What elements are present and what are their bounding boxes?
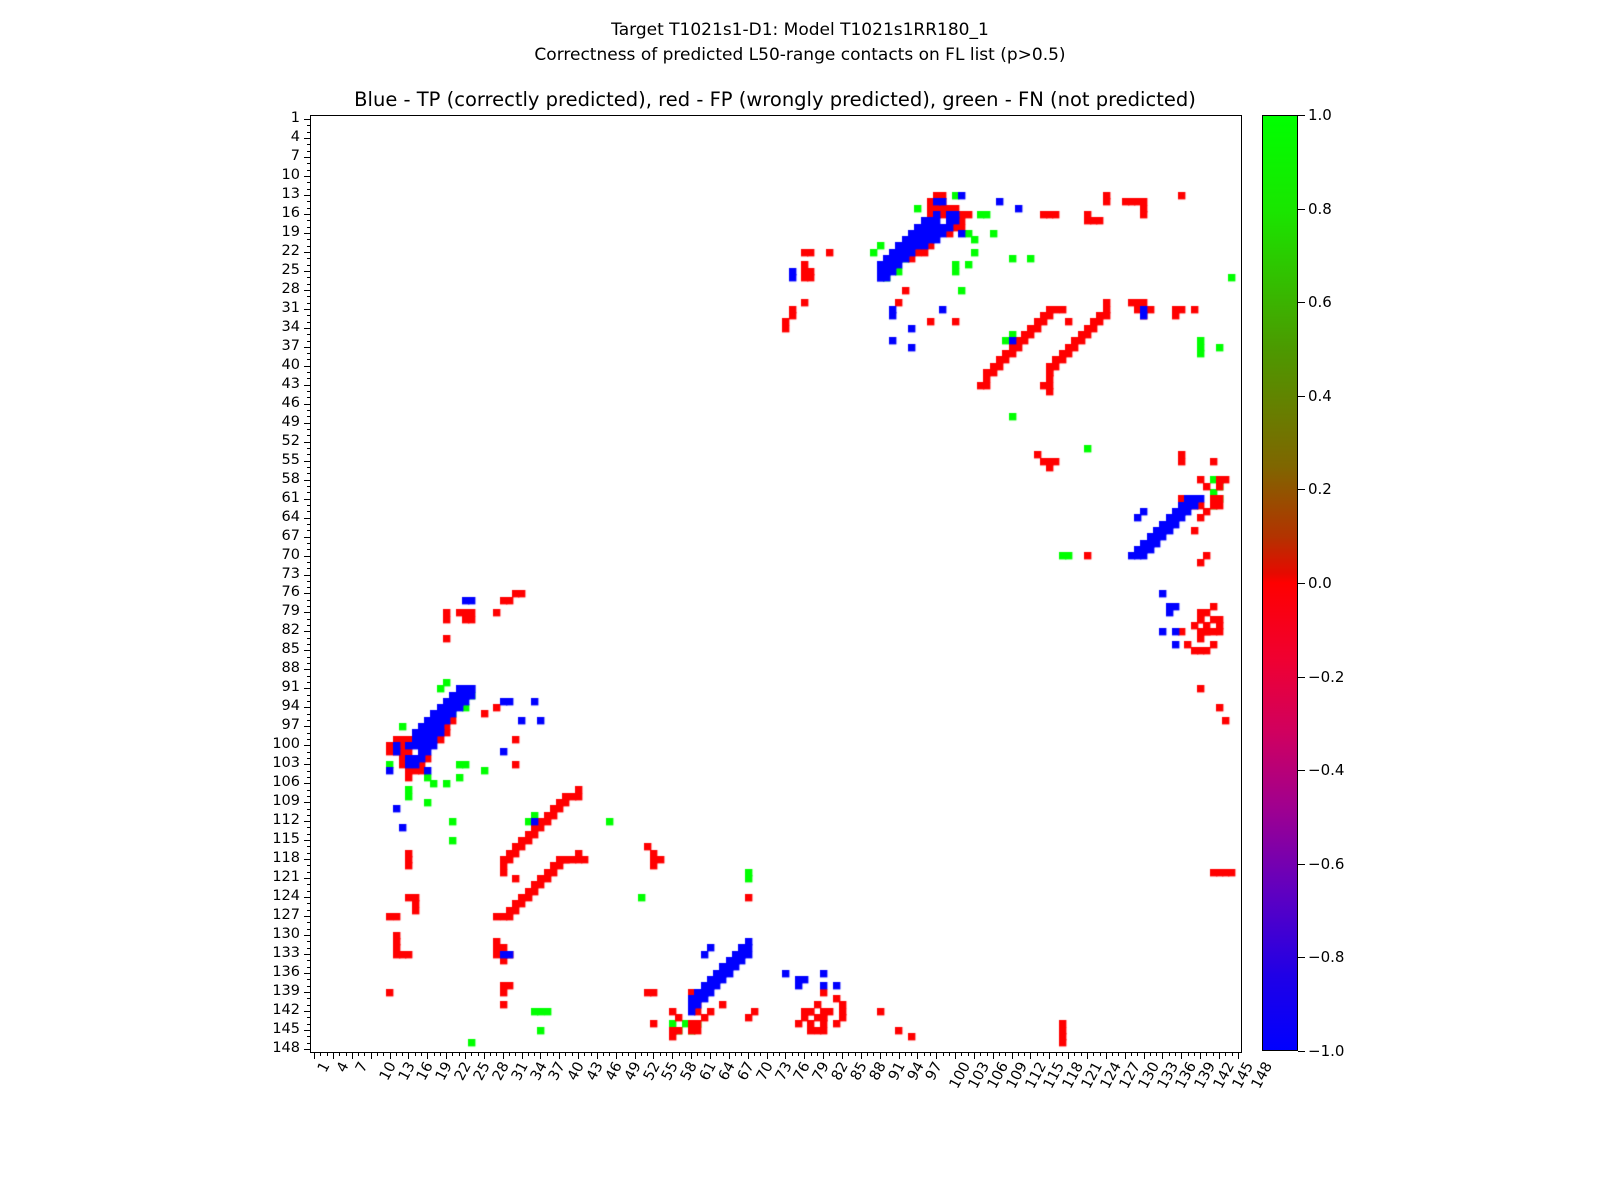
y-tick bbox=[307, 625, 311, 626]
x-tick bbox=[647, 1052, 648, 1056]
x-tick bbox=[1137, 1052, 1138, 1056]
y-tick bbox=[304, 612, 311, 613]
y-tick bbox=[304, 252, 311, 253]
x-tick bbox=[905, 1052, 906, 1056]
y-tick bbox=[304, 518, 311, 519]
colorbar-container[interactable]: 1.00.80.60.40.20.0−0.2−0.4−0.6−0.8−1.0 bbox=[1262, 115, 1298, 1051]
y-tick bbox=[307, 341, 311, 342]
x-tick bbox=[836, 1052, 837, 1056]
x-tick bbox=[364, 1052, 365, 1056]
y-tick bbox=[307, 549, 311, 550]
x-tick bbox=[955, 1052, 956, 1059]
x-tick bbox=[1024, 1052, 1025, 1056]
x-tick bbox=[842, 1052, 843, 1059]
x-tick bbox=[892, 1052, 893, 1056]
y-tick bbox=[307, 891, 311, 892]
x-tick bbox=[943, 1052, 944, 1056]
y-tick bbox=[304, 480, 311, 481]
y-tick bbox=[307, 815, 311, 816]
y-tick bbox=[304, 423, 311, 424]
y-tick bbox=[304, 461, 311, 462]
y-tick-label: 133 bbox=[242, 946, 300, 960]
y-tick bbox=[304, 688, 311, 689]
x-tick-label: 40 bbox=[566, 1060, 587, 1083]
y-tick bbox=[304, 214, 311, 215]
x-tick bbox=[1030, 1052, 1031, 1059]
x-tick bbox=[628, 1052, 629, 1056]
x-tick bbox=[1074, 1052, 1075, 1056]
y-tick bbox=[304, 1049, 311, 1050]
x-tick bbox=[729, 1052, 730, 1059]
y-tick bbox=[304, 233, 311, 234]
x-tick bbox=[792, 1052, 793, 1056]
x-tick-label: 64 bbox=[717, 1060, 738, 1083]
x-tick bbox=[641, 1052, 642, 1056]
x-tick bbox=[811, 1052, 812, 1056]
y-tick bbox=[307, 372, 311, 373]
y-tick-label: 73 bbox=[242, 567, 300, 581]
y-tick-label: 43 bbox=[242, 377, 300, 391]
x-tick bbox=[779, 1052, 780, 1056]
x-tick bbox=[735, 1052, 736, 1056]
y-tick-label: 67 bbox=[242, 529, 300, 543]
x-tick-label: 43 bbox=[585, 1060, 606, 1083]
x-tick bbox=[697, 1052, 698, 1056]
y-tick-label: 85 bbox=[242, 642, 300, 656]
y-tick bbox=[307, 144, 311, 145]
y-tick-label: 28 bbox=[242, 282, 300, 296]
y-tick bbox=[304, 802, 311, 803]
y-tick bbox=[307, 562, 311, 563]
y-tick-label: 16 bbox=[242, 206, 300, 220]
y-tick bbox=[307, 246, 311, 247]
x-tick bbox=[1100, 1052, 1101, 1056]
x-tick bbox=[704, 1052, 705, 1056]
y-tick bbox=[307, 809, 311, 810]
y-tick-label: 103 bbox=[242, 756, 300, 770]
y-tick bbox=[307, 473, 311, 474]
x-tick bbox=[1093, 1052, 1094, 1056]
y-tick bbox=[307, 929, 311, 930]
y-tick bbox=[307, 834, 311, 835]
y-tick bbox=[307, 865, 311, 866]
x-tick-label: 67 bbox=[736, 1060, 757, 1083]
y-tick bbox=[307, 922, 311, 923]
x-tick bbox=[503, 1052, 504, 1059]
x-tick bbox=[917, 1052, 918, 1059]
x-tick bbox=[1181, 1052, 1182, 1059]
y-tick bbox=[307, 132, 311, 133]
x-tick-label: 55 bbox=[660, 1060, 681, 1083]
x-tick bbox=[339, 1052, 340, 1056]
y-tick-label: 49 bbox=[242, 415, 300, 429]
y-tick bbox=[307, 733, 311, 734]
y-tick bbox=[304, 119, 311, 120]
y-tick bbox=[307, 416, 311, 417]
y-axis-tick-labels: 1471013161922252831343740434649525558616… bbox=[242, 115, 302, 1051]
y-tick bbox=[304, 442, 311, 443]
colorbar-tick bbox=[1298, 957, 1305, 958]
y-tick bbox=[307, 771, 311, 772]
x-tick bbox=[440, 1052, 441, 1056]
x-tick bbox=[924, 1052, 925, 1056]
y-tick bbox=[307, 448, 311, 449]
y-tick bbox=[307, 587, 311, 588]
x-tick bbox=[327, 1052, 328, 1056]
y-tick bbox=[307, 296, 311, 297]
x-tick-label: 97 bbox=[924, 1060, 945, 1083]
y-tick bbox=[304, 271, 311, 272]
x-tick bbox=[616, 1052, 617, 1059]
y-tick-label: 127 bbox=[242, 908, 300, 922]
y-tick bbox=[307, 568, 311, 569]
contact-map-canvas[interactable] bbox=[311, 116, 1241, 1052]
x-tick bbox=[383, 1052, 384, 1056]
x-tick bbox=[1062, 1052, 1063, 1056]
x-tick bbox=[1087, 1052, 1088, 1059]
x-tick bbox=[817, 1052, 818, 1056]
y-tick bbox=[307, 429, 311, 430]
y-tick bbox=[304, 707, 311, 708]
y-tick bbox=[307, 391, 311, 392]
y-tick-label: 1 bbox=[242, 111, 300, 125]
x-tick bbox=[465, 1052, 466, 1059]
x-tick-label: 61 bbox=[698, 1060, 719, 1083]
x-tick bbox=[346, 1052, 347, 1056]
colorbar-gradient bbox=[1262, 115, 1298, 1051]
x-tick bbox=[371, 1052, 372, 1059]
y-tick bbox=[307, 284, 311, 285]
y-tick-label: 76 bbox=[242, 585, 300, 599]
colorbar-tick bbox=[1298, 302, 1305, 303]
y-tick bbox=[304, 138, 311, 139]
x-tick bbox=[861, 1052, 862, 1059]
colorbar-tick-label: −1.0 bbox=[1308, 1044, 1344, 1059]
y-tick bbox=[304, 593, 311, 594]
y-tick bbox=[307, 125, 311, 126]
y-tick bbox=[307, 524, 311, 525]
y-tick bbox=[307, 714, 311, 715]
y-tick-label: 136 bbox=[242, 965, 300, 979]
x-tick bbox=[390, 1052, 391, 1059]
x-tick bbox=[559, 1052, 560, 1059]
x-tick bbox=[968, 1052, 969, 1056]
y-tick bbox=[307, 676, 311, 677]
x-tick bbox=[320, 1052, 321, 1056]
y-tick bbox=[307, 359, 311, 360]
x-tick bbox=[974, 1052, 975, 1059]
y-tick bbox=[304, 669, 311, 670]
y-tick bbox=[307, 151, 311, 152]
y-tick bbox=[304, 954, 311, 955]
x-tick bbox=[1112, 1052, 1113, 1056]
x-tick bbox=[1175, 1052, 1176, 1056]
x-tick-label: 34 bbox=[528, 1060, 549, 1083]
y-tick bbox=[307, 170, 311, 171]
x-tick bbox=[760, 1052, 761, 1056]
x-tick bbox=[691, 1052, 692, 1059]
y-tick bbox=[307, 903, 311, 904]
y-tick bbox=[307, 979, 311, 980]
y-tick bbox=[307, 208, 311, 209]
x-tick bbox=[949, 1052, 950, 1056]
x-tick bbox=[622, 1052, 623, 1056]
colorbar-tick bbox=[1298, 396, 1305, 397]
figure-title-block: Target T1021s1-D1: Model T1021s1RR180_1 … bbox=[0, 18, 1600, 68]
y-tick-label: 19 bbox=[242, 225, 300, 239]
x-tick bbox=[408, 1052, 409, 1059]
x-tick bbox=[855, 1052, 856, 1056]
y-tick-label: 52 bbox=[242, 434, 300, 448]
x-tick bbox=[829, 1052, 830, 1056]
y-tick bbox=[304, 1030, 311, 1031]
colorbar-tick-label: 0.4 bbox=[1308, 389, 1332, 404]
x-tick bbox=[434, 1052, 435, 1056]
colorbar-tick-label: 0.0 bbox=[1308, 576, 1332, 591]
y-tick bbox=[304, 878, 311, 879]
y-tick bbox=[307, 986, 311, 987]
x-tick bbox=[660, 1052, 661, 1056]
x-tick bbox=[402, 1052, 403, 1056]
y-tick bbox=[307, 543, 311, 544]
y-tick bbox=[304, 650, 311, 651]
y-tick bbox=[307, 720, 311, 721]
y-tick bbox=[307, 619, 311, 620]
x-tick bbox=[358, 1052, 359, 1056]
y-tick bbox=[304, 404, 311, 405]
x-tick bbox=[515, 1052, 516, 1056]
y-tick bbox=[307, 701, 311, 702]
y-tick bbox=[304, 385, 311, 386]
x-tick bbox=[653, 1052, 654, 1059]
y-tick bbox=[307, 796, 311, 797]
y-tick-label: 145 bbox=[242, 1022, 300, 1036]
y-tick-label: 40 bbox=[242, 358, 300, 372]
x-tick bbox=[754, 1052, 755, 1056]
x-tick bbox=[540, 1052, 541, 1059]
x-tick bbox=[565, 1052, 566, 1056]
y-tick-label: 130 bbox=[242, 927, 300, 941]
x-tick-label: 79 bbox=[811, 1060, 832, 1083]
x-tick bbox=[534, 1052, 535, 1056]
y-tick bbox=[307, 277, 311, 278]
x-tick-label: 46 bbox=[604, 1060, 625, 1083]
x-tick bbox=[1012, 1052, 1013, 1059]
x-tick-label: 88 bbox=[868, 1060, 889, 1083]
y-tick bbox=[307, 1017, 311, 1018]
x-tick bbox=[666, 1052, 667, 1056]
x-tick bbox=[578, 1052, 579, 1059]
y-tick bbox=[304, 973, 311, 974]
x-tick bbox=[685, 1052, 686, 1056]
x-tick bbox=[748, 1052, 749, 1059]
y-tick bbox=[307, 941, 311, 942]
y-tick-label: 64 bbox=[242, 510, 300, 524]
y-tick bbox=[307, 758, 311, 759]
colorbar-tick bbox=[1298, 583, 1305, 584]
y-tick-label: 79 bbox=[242, 604, 300, 618]
x-tick bbox=[547, 1052, 548, 1056]
colorbar-tick bbox=[1298, 677, 1305, 678]
y-tick bbox=[307, 1005, 311, 1006]
y-tick-label: 88 bbox=[242, 661, 300, 675]
y-tick bbox=[307, 315, 311, 316]
y-tick bbox=[304, 916, 311, 917]
x-tick-label: 82 bbox=[830, 1060, 851, 1083]
y-tick bbox=[304, 537, 311, 538]
x-tick-label: 13 bbox=[396, 1060, 417, 1083]
x-tick bbox=[1150, 1052, 1151, 1056]
y-tick bbox=[307, 189, 311, 190]
x-tick-label: 31 bbox=[509, 1060, 530, 1083]
x-tick-label: 25 bbox=[472, 1060, 493, 1083]
y-tick bbox=[307, 467, 311, 468]
y-tick-label: 106 bbox=[242, 775, 300, 789]
y-tick bbox=[307, 948, 311, 949]
y-tick bbox=[307, 220, 311, 221]
y-tick bbox=[304, 556, 311, 557]
x-tick bbox=[1238, 1052, 1239, 1059]
y-tick-label: 58 bbox=[242, 472, 300, 486]
y-tick bbox=[307, 644, 311, 645]
y-tick bbox=[307, 1024, 311, 1025]
y-tick-label: 55 bbox=[242, 453, 300, 467]
y-tick-label: 31 bbox=[242, 301, 300, 315]
x-tick bbox=[741, 1052, 742, 1056]
y-tick bbox=[307, 492, 311, 493]
y-tick bbox=[307, 581, 311, 582]
x-tick bbox=[1125, 1052, 1126, 1059]
y-tick-label: 7 bbox=[242, 149, 300, 163]
x-tick bbox=[1056, 1052, 1057, 1056]
x-tick-label: 70 bbox=[755, 1060, 776, 1083]
x-tick bbox=[899, 1052, 900, 1059]
x-tick-label: 76 bbox=[792, 1060, 813, 1083]
y-tick bbox=[304, 328, 311, 329]
y-tick bbox=[304, 195, 311, 196]
y-tick bbox=[307, 353, 311, 354]
y-tick bbox=[304, 366, 311, 367]
y-tick bbox=[307, 638, 311, 639]
y-tick bbox=[307, 739, 311, 740]
contact-map-plot[interactable] bbox=[310, 115, 1242, 1053]
y-tick bbox=[307, 511, 311, 512]
x-tick bbox=[427, 1052, 428, 1059]
y-tick bbox=[307, 960, 311, 961]
y-tick bbox=[307, 1036, 311, 1037]
x-tick bbox=[1018, 1052, 1019, 1056]
y-tick bbox=[304, 176, 311, 177]
y-tick-label: 10 bbox=[242, 168, 300, 182]
y-tick bbox=[304, 745, 311, 746]
y-tick-label: 70 bbox=[242, 548, 300, 562]
x-tick bbox=[352, 1052, 353, 1059]
y-tick-label: 112 bbox=[242, 813, 300, 827]
y-tick bbox=[307, 695, 311, 696]
y-tick bbox=[307, 239, 311, 240]
y-tick bbox=[307, 606, 311, 607]
x-tick bbox=[553, 1052, 554, 1056]
y-tick-label: 4 bbox=[242, 130, 300, 144]
y-tick bbox=[304, 783, 311, 784]
x-tick bbox=[415, 1052, 416, 1056]
y-tick bbox=[307, 322, 311, 323]
x-tick bbox=[911, 1052, 912, 1056]
x-tick bbox=[873, 1052, 874, 1056]
colorbar-tick-label: −0.6 bbox=[1308, 857, 1344, 872]
x-tick bbox=[1081, 1052, 1082, 1056]
x-tick-label: 1 bbox=[316, 1060, 333, 1075]
x-tick bbox=[609, 1052, 610, 1056]
y-tick-label: 97 bbox=[242, 718, 300, 732]
x-tick bbox=[446, 1052, 447, 1059]
x-tick bbox=[710, 1052, 711, 1059]
y-tick bbox=[307, 265, 311, 266]
y-tick-label: 115 bbox=[242, 832, 300, 846]
x-tick bbox=[1106, 1052, 1107, 1059]
x-tick bbox=[1194, 1052, 1195, 1056]
y-tick bbox=[304, 764, 311, 765]
y-tick-label: 82 bbox=[242, 623, 300, 637]
x-tick bbox=[1144, 1052, 1145, 1059]
x-tick-label: 49 bbox=[623, 1060, 644, 1083]
x-tick bbox=[584, 1052, 585, 1056]
x-tick bbox=[804, 1052, 805, 1059]
y-tick bbox=[307, 258, 311, 259]
y-tick-label: 91 bbox=[242, 680, 300, 694]
x-tick bbox=[1225, 1052, 1226, 1056]
x-tick bbox=[635, 1052, 636, 1059]
x-tick bbox=[1232, 1052, 1233, 1056]
colorbar-tick-label: −0.8 bbox=[1308, 950, 1344, 965]
x-tick bbox=[867, 1052, 868, 1056]
colorbar-tick-label: −0.4 bbox=[1308, 763, 1344, 778]
x-tick-label: 16 bbox=[415, 1060, 436, 1083]
axes-legend-title: Blue - TP (correctly predicted), red - F… bbox=[310, 88, 1240, 111]
x-tick bbox=[1156, 1052, 1157, 1056]
x-tick bbox=[993, 1052, 994, 1059]
y-tick bbox=[304, 347, 311, 348]
x-tick bbox=[936, 1052, 937, 1059]
y-tick-label: 13 bbox=[242, 187, 300, 201]
x-tick bbox=[798, 1052, 799, 1056]
x-tick bbox=[509, 1052, 510, 1056]
x-tick bbox=[1169, 1052, 1170, 1056]
x-tick bbox=[1068, 1052, 1069, 1059]
x-tick bbox=[672, 1052, 673, 1059]
x-tick bbox=[1219, 1052, 1220, 1059]
x-tick bbox=[1200, 1052, 1201, 1059]
y-tick bbox=[304, 897, 311, 898]
y-tick-label: 37 bbox=[242, 339, 300, 353]
y-tick bbox=[307, 334, 311, 335]
x-tick-label: 58 bbox=[679, 1060, 700, 1083]
y-tick bbox=[304, 157, 311, 158]
y-tick bbox=[304, 821, 311, 822]
y-tick-label: 61 bbox=[242, 491, 300, 505]
x-tick bbox=[396, 1052, 397, 1056]
x-tick bbox=[987, 1052, 988, 1056]
x-tick-label: 94 bbox=[905, 1060, 926, 1083]
x-tick bbox=[886, 1052, 887, 1056]
y-tick bbox=[307, 435, 311, 436]
x-tick bbox=[1037, 1052, 1038, 1056]
x-tick-label: 4 bbox=[335, 1060, 352, 1075]
x-tick-label: 73 bbox=[773, 1060, 794, 1083]
x-tick bbox=[377, 1052, 378, 1056]
y-tick bbox=[304, 290, 311, 291]
y-tick bbox=[304, 575, 311, 576]
